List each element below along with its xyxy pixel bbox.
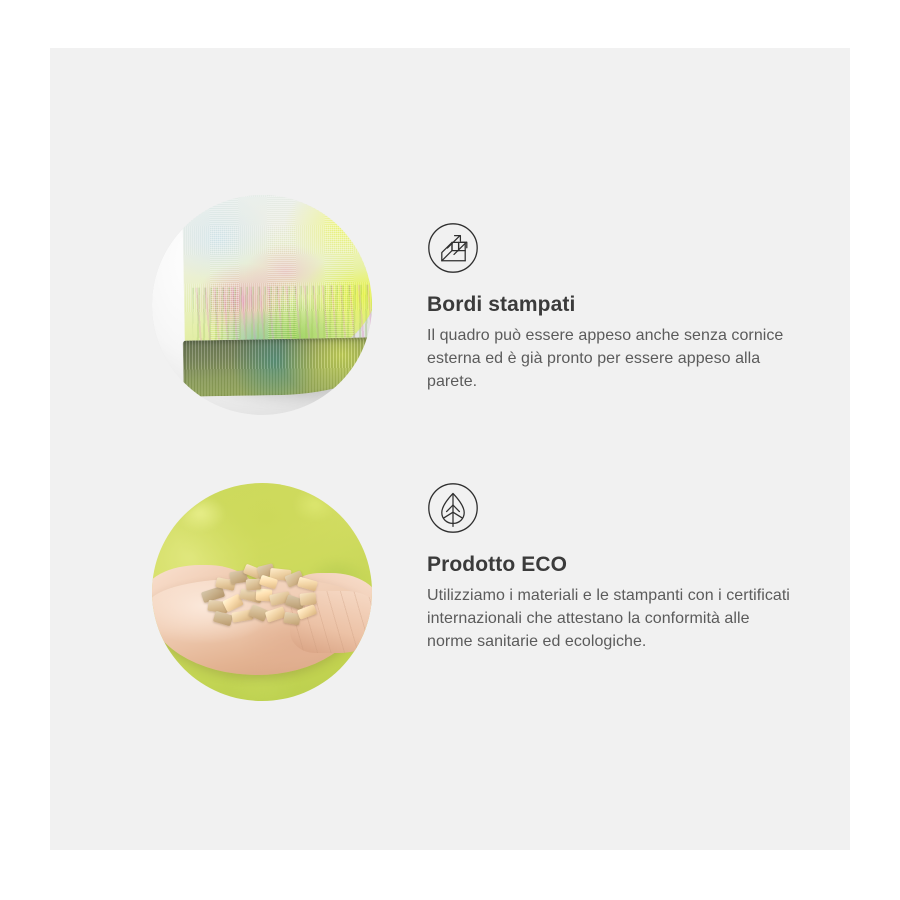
feature-title: Bordi stampati: [427, 292, 799, 317]
wood-chip: [299, 592, 316, 606]
wood-chip: [213, 611, 233, 627]
wood-chip-pile: [200, 563, 324, 627]
wrapped-canvas-edges-icon: [427, 222, 479, 274]
feature-text-printed-edges: Bordi stampati Il quadro può essere appe…: [427, 222, 799, 393]
feature-text-eco-product: Prodotto ECO Utilizziamo i materiali e l…: [427, 482, 799, 653]
feature-title: Prodotto ECO: [427, 552, 799, 577]
background-panel: [50, 48, 850, 850]
cupped-hands: [152, 557, 372, 681]
product-feature-page: Bordi stampati Il quadro può essere appe…: [0, 0, 900, 900]
canvas-corner-photo: [152, 195, 372, 415]
feature-description: Utilizziamo i materiali e le stampanti c…: [427, 585, 799, 653]
hands-with-wood-chips-photo: [152, 483, 372, 701]
wood-chip: [297, 577, 318, 592]
leaf-icon: [427, 482, 479, 534]
feature-description: Il quadro può essere appeso anche senza …: [427, 325, 799, 393]
canvas-object: [182, 195, 372, 403]
